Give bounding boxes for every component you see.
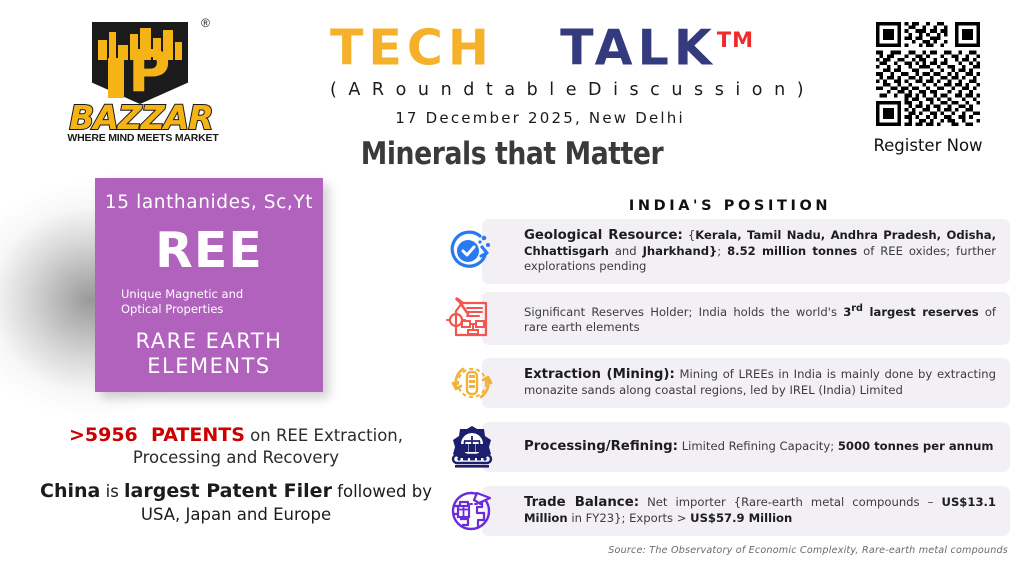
position-row: Trade Balance: Net importer {Rare-earth … xyxy=(438,482,1010,540)
ree-expansion: RARE EARTH ELEMENTS xyxy=(95,329,323,379)
position-row-text: Processing/Refining: Limited Refining Ca… xyxy=(524,439,994,455)
ree-elements-count: 15 lanthanides, Sc,Yt xyxy=(95,192,323,213)
position-row: Significant Reserves Holder; India holds… xyxy=(438,290,1010,348)
registered-mark-icon: ® xyxy=(201,16,210,30)
source-note: Source: The Observatory of Economic Comp… xyxy=(560,545,1008,556)
event-subtitle: ( A R o u n d t a b l e D i s c u s s i … xyxy=(330,80,750,100)
mining-recycle-icon xyxy=(446,358,498,408)
check-circle-refresh-icon xyxy=(446,226,498,276)
position-row-lead: Trade Balance: xyxy=(524,495,639,510)
factory-gear-conveyor-icon xyxy=(438,418,506,476)
document-pen-gear-icon xyxy=(446,294,498,344)
position-row-segment: Limited Refining Capacity; xyxy=(678,439,838,453)
india-position-list: Geological Resource: {Kerala, Tamil Nadu… xyxy=(438,219,1010,546)
event-date-location: 17 December 2025, New Delhi xyxy=(330,109,750,127)
brand-logo: P ® BAZZAR WHERE MIND MEETS MARKET xyxy=(66,14,216,139)
event-title: TECH TALKTM xyxy=(330,12,750,76)
trademark-icon: TM xyxy=(717,28,754,52)
position-row-segment: ; xyxy=(717,244,727,258)
ree-properties-line1: Unique Magnetic and xyxy=(121,287,323,302)
position-row-body: Significant Reserves Holder; India holds… xyxy=(482,292,1010,345)
logo-letter-p: P xyxy=(128,44,162,100)
position-row-lead: Processing/Refining: xyxy=(524,439,678,454)
position-row-text: Significant Reserves Holder; India holds… xyxy=(524,301,996,336)
filer-role: largest Patent Filer xyxy=(124,480,332,502)
ree-acronym: REE xyxy=(95,225,323,277)
title-talk: TALK xyxy=(560,19,717,76)
position-row-body: Trade Balance: Net importer {Rare-earth … xyxy=(482,486,1010,536)
position-row: Geological Resource: {Kerala, Tamil Nadu… xyxy=(438,219,1010,284)
filer-country: China xyxy=(40,480,100,502)
position-row: Processing/Refining: Limited Refining Ca… xyxy=(438,418,1010,476)
slide-canvas: P ® BAZZAR WHERE MIND MEETS MARKET TECH … xyxy=(0,0,1024,576)
globe-plane-package-icon xyxy=(438,482,506,540)
ree-expansion-line2: ELEMENTS xyxy=(95,354,323,379)
filer-stat: China is largest Patent Filer followed b… xyxy=(36,480,436,526)
position-row-highlight: 8.52 million tonnes xyxy=(727,244,857,258)
page-title: Minerals that Matter xyxy=(72,136,953,172)
panel-heading: INDIA'S POSITION xyxy=(450,198,1010,214)
filer-connector: is xyxy=(100,482,124,501)
patents-stat: >5956 PATENTS on REE Extraction, Process… xyxy=(36,424,436,469)
mining-recycle-icon xyxy=(438,354,506,412)
check-circle-refresh-icon xyxy=(438,222,506,280)
patents-word: PATENTS xyxy=(151,424,245,446)
position-row-segment: Net importer {Rare-earth metal compounds… xyxy=(639,495,942,509)
qr-code-icon[interactable] xyxy=(874,22,982,126)
factory-gear-conveyor-icon xyxy=(446,422,498,472)
position-row-lead: Extraction (Mining): xyxy=(524,367,675,382)
position-row-segment: in FY23}; Exports > xyxy=(568,511,691,525)
patents-count: >5956 xyxy=(69,424,138,446)
globe-plane-package-icon xyxy=(446,486,498,536)
position-row-text: Extraction (Mining): Mining of LREEs in … xyxy=(524,367,996,398)
position-row-body: Extraction (Mining): Mining of LREEs in … xyxy=(482,358,1010,408)
position-row-body: Geological Resource: {Kerala, Tamil Nadu… xyxy=(482,219,1010,284)
position-row-highlight: Jharkhand} xyxy=(643,244,718,258)
ree-properties-line2: Optical Properties xyxy=(121,302,323,317)
ree-definition-card: 15 lanthanides, Sc,Yt REE Unique Magneti… xyxy=(95,178,323,392)
position-row-segment: { xyxy=(683,228,695,242)
position-row-text: Geological Resource: {Kerala, Tamil Nadu… xyxy=(524,228,996,275)
event-title-block: TECH TALKTM ( A R o u n d t a b l e D i … xyxy=(330,12,750,127)
position-row-lead: Geological Resource: xyxy=(524,228,683,243)
position-row-body: Processing/Refining: Limited Refining Ca… xyxy=(482,422,1010,472)
position-row-highlight: US$57.9 Million xyxy=(690,511,792,525)
position-row: Extraction (Mining): Mining of LREEs in … xyxy=(438,354,1010,412)
logo-letter-i xyxy=(108,58,124,98)
document-pen-gear-icon xyxy=(438,290,506,348)
position-row-highlight: 3rd largest reserves xyxy=(843,305,978,319)
ree-properties: Unique Magnetic and Optical Properties xyxy=(95,287,323,317)
position-row-segment: and xyxy=(609,244,643,258)
position-row-segment: Significant Reserves Holder; India holds… xyxy=(524,305,843,319)
position-row-text: Trade Balance: Net importer {Rare-earth … xyxy=(524,495,996,526)
ree-expansion-line1: RARE EARTH xyxy=(95,329,323,354)
title-tech: TECH xyxy=(330,19,494,76)
position-row-highlight: 5000 tonnes per annum xyxy=(838,439,994,453)
